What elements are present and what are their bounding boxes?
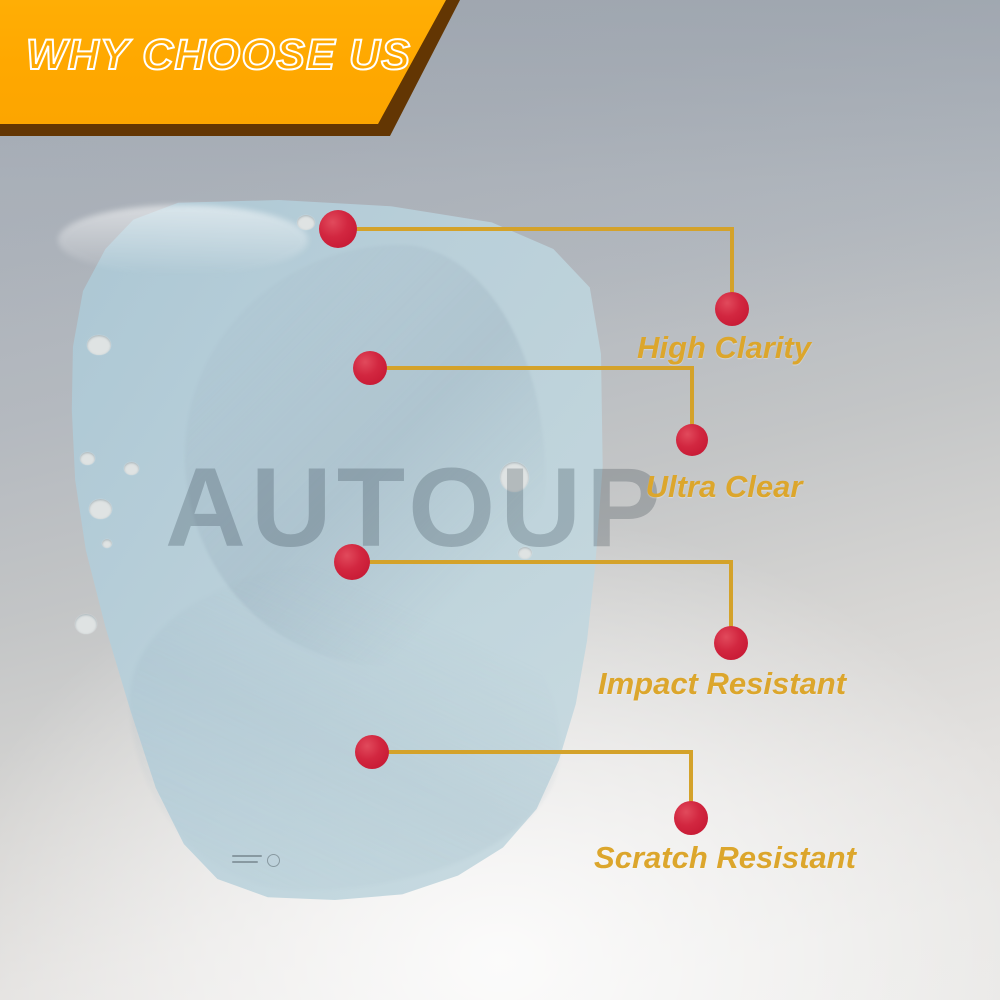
callout-source-dot[interactable]	[319, 210, 357, 248]
callout-label: Ultra Clear	[646, 469, 803, 505]
callout-label: Impact Resistant	[598, 666, 846, 702]
callout-label: Scratch Resistant	[594, 840, 856, 876]
banner-title: WHY CHOOSE US	[26, 31, 411, 80]
callout-connector-horizontal	[338, 227, 732, 231]
product-feature-graphic: AUTOUP High ClarityUltra ClearImpact Res…	[0, 0, 1000, 1000]
callout-source-dot[interactable]	[355, 735, 389, 769]
callout-connector-horizontal	[370, 366, 692, 370]
callout-source-dot[interactable]	[334, 544, 370, 580]
callout-target-dot[interactable]	[714, 626, 748, 660]
callout-connector-horizontal	[352, 560, 731, 564]
callout-connector-horizontal	[372, 750, 691, 754]
callout-target-dot[interactable]	[715, 292, 749, 326]
callout-label: High Clarity	[637, 330, 811, 366]
callout-source-dot[interactable]	[353, 351, 387, 385]
why-choose-us-banner: WHY CHOOSE US	[0, 0, 470, 145]
callout-target-dot[interactable]	[674, 801, 708, 835]
callout-target-dot[interactable]	[676, 424, 708, 456]
